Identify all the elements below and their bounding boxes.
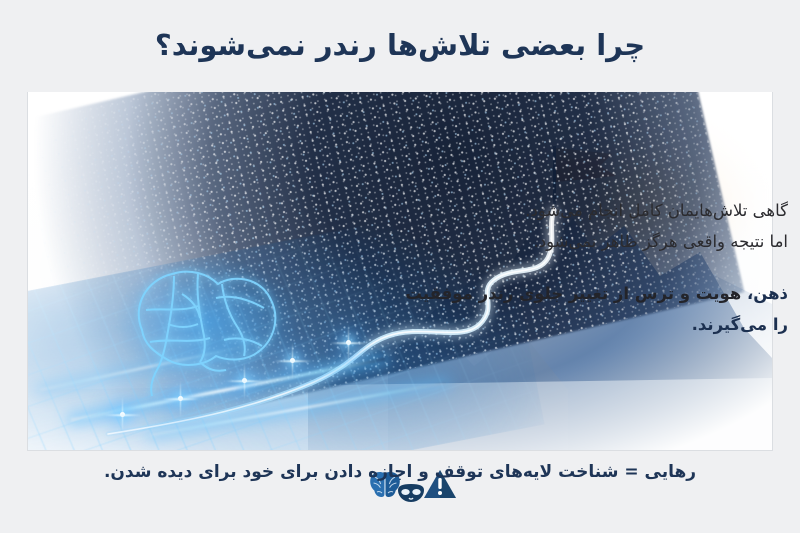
title-band: چرا بعضی تلاش‌ها رندر نمی‌شوند؟ — [0, 0, 800, 92]
footer-text: رهایی = شناخت لایه‌های توقف و اجازه دادن… — [104, 462, 696, 482]
body-copy: گاهی تلاش‌هایمان کامل انجام می‌شود. اما … — [358, 196, 788, 340]
paragraph-1-line-2: اما نتیجه واقعی هرگز ظاهر نمی‌شود. — [358, 227, 788, 258]
paragraph-1: گاهی تلاش‌هایمان کامل انجام می‌شود. اما … — [358, 196, 788, 257]
paragraph-2: ذهن، هویت و ترس از تغییر جلوی رندر موفقی… — [358, 279, 788, 340]
poster-canvas: چرا بعضی تلاش‌ها رندر نمی‌شوند؟ — [0, 0, 800, 533]
paragraph-2-line-2: را می‌گیرند. — [358, 310, 788, 341]
footer-line: رهایی = شناخت لایه‌های توقف و اجازه دادن… — [0, 462, 800, 482]
paragraph-2-rest: هویت و ترس از تغییر جلوی رندر موفقیت — [405, 284, 747, 303]
light-spark — [120, 412, 125, 417]
page-title: چرا بعضی تلاش‌ها رندر نمی‌شوند؟ — [155, 30, 645, 62]
paragraph-2-line-1: ذهن، هویت و ترس از تغییر جلوی رندر موفقی… — [358, 279, 788, 310]
wireframe-brain-icon — [112, 250, 302, 400]
paragraph-2-lead: ذهن، — [747, 284, 788, 303]
paragraph-1-line-1: گاهی تلاش‌هایمان کامل انجام می‌شود. — [358, 196, 788, 227]
light-spark — [346, 340, 351, 345]
